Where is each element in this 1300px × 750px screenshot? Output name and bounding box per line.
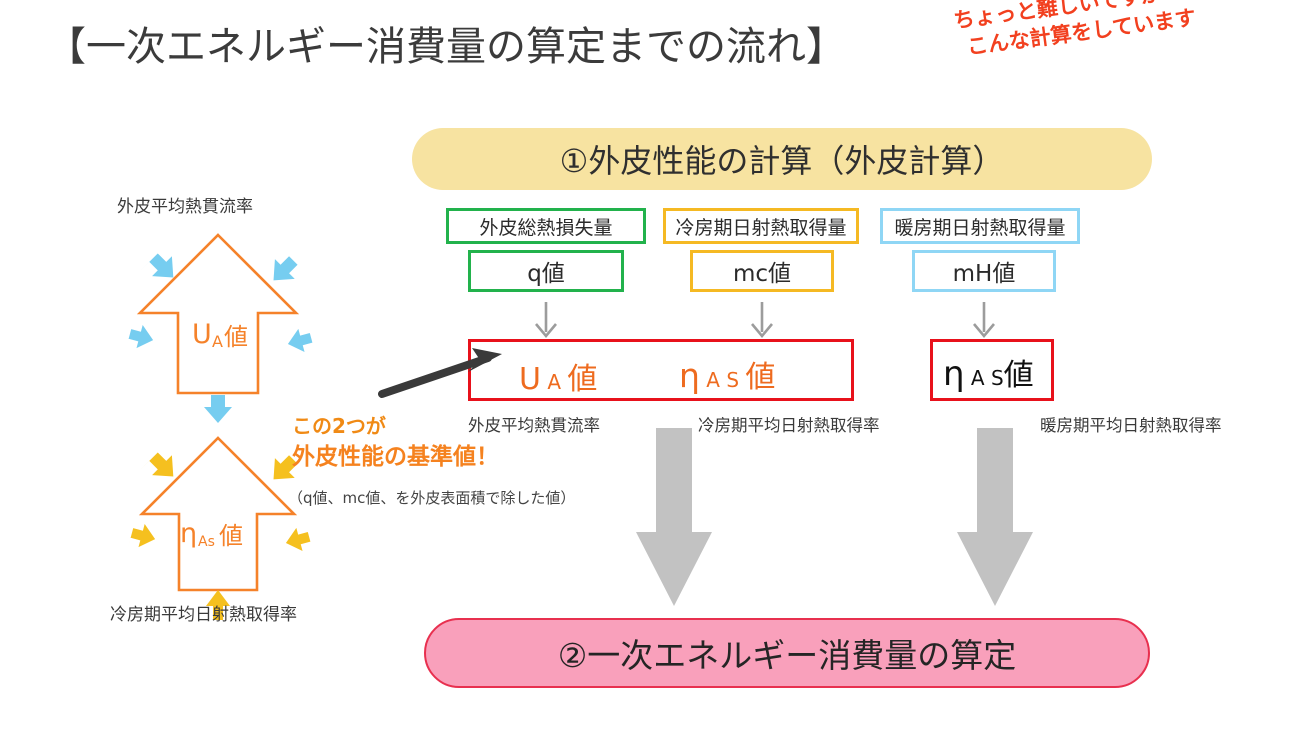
svg-text:値: 値 — [219, 522, 243, 550]
eta-house-label: η — [180, 518, 197, 549]
box-q-value: q値 — [468, 250, 624, 292]
svg-text:As: As — [198, 534, 215, 550]
box-mh-value: mH値 — [912, 250, 1056, 292]
box-mc-value: mc値 — [690, 250, 834, 292]
house-outline — [140, 235, 296, 393]
ua-house-label: U — [192, 319, 212, 350]
arrow-down-green-column — [531, 300, 561, 342]
box-cooling-solar-heat-gain: 冷房期日射熱取得量 — [663, 208, 859, 244]
box-heating-solar-heat-gain: 暖房期日射熱取得量 — [880, 208, 1080, 244]
result-box-envelope-criteria: U A 値 η A S 値 — [468, 339, 854, 401]
svg-text:A: A — [212, 332, 223, 351]
caption-eta-cooling: 冷房期平均日射熱取得率 — [698, 412, 880, 436]
big-arrow-down-right — [955, 428, 1035, 610]
box-envelope-total-heat-loss: 外皮総熱損失量 — [446, 208, 646, 244]
pointer-arrow-to-criteria — [376, 338, 516, 400]
result-eta-value: η A S 値 — [679, 352, 775, 396]
illustration-ua-house: U A 値 — [118, 225, 318, 410]
big-arrow-down-left — [634, 428, 714, 610]
banner-step1-envelope-calculation: ①外皮性能の計算（外皮計算） — [412, 128, 1152, 190]
illustration-ua-caption: 外皮平均熱貫流率 — [117, 192, 253, 217]
result-ua-value: U A 値 — [519, 354, 597, 398]
arrow-down-blue-column — [969, 300, 999, 342]
emphasis-note: この2つが 外皮性能の基準値！ — [292, 412, 499, 474]
result-box-heating-eta: η A S値 — [930, 339, 1054, 401]
page-title: 【一次エネルギー消費量の算定までの流れ】 — [46, 14, 846, 72]
caption-eta-heating: 暖房期平均日射熱取得率 — [1040, 412, 1222, 436]
result-eta-heating-value: η A S値 — [943, 350, 1034, 394]
emphasis-line2: 外皮性能の基準値！ — [292, 441, 499, 474]
emphasis-line1: この2つが — [292, 414, 386, 438]
emphasis-paren-note: （q値、mc値、を外皮表面積で除した値） — [288, 487, 575, 508]
diagram-canvas: 【一次エネルギー消費量の算定までの流れ】 ちょっと難しいですが・・・ こんな計算… — [0, 0, 1300, 750]
banner-step2-primary-energy: ②一次エネルギー消費量の算定 — [424, 618, 1150, 688]
illustration-eta-caption: 冷房期平均日射熱取得率 — [110, 600, 297, 625]
svg-text:値: 値 — [224, 323, 248, 351]
handwritten-note: ちょっと難しいですが・・・ こんな計算をしています — [952, 0, 1229, 63]
arrow-down-yellow-column — [747, 300, 777, 342]
ua-house-svg: U A 値 — [118, 225, 318, 410]
eta-house-svg: η As 値 — [118, 430, 318, 605]
illustration-eta-house: η As 値 — [118, 430, 318, 605]
